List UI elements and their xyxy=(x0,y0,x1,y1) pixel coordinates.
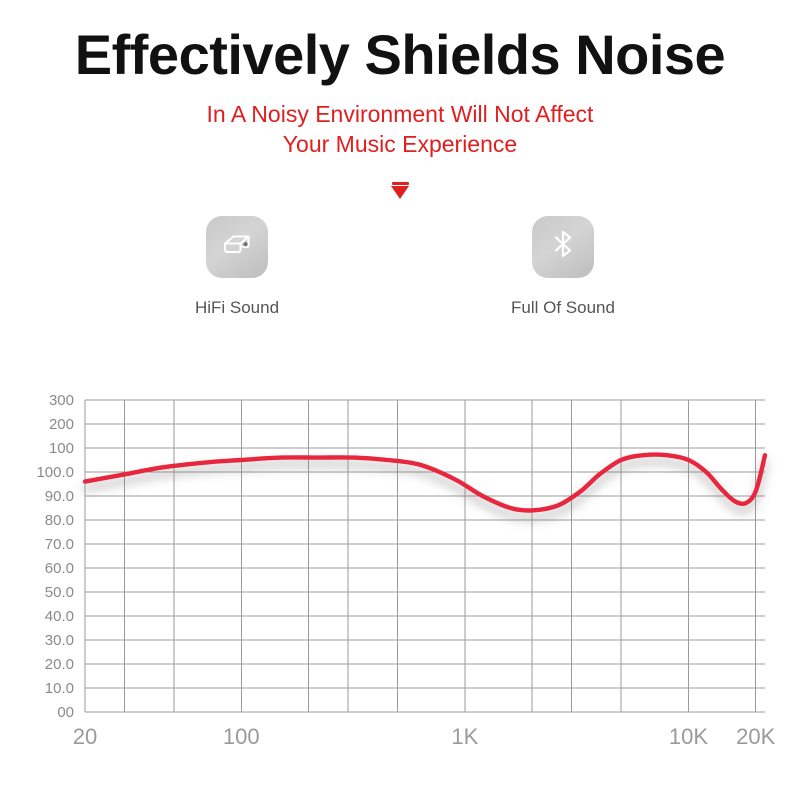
feature-item-hifi-sound: HiFi Sound xyxy=(162,216,312,318)
feature-icon-tile xyxy=(532,216,594,278)
chart-horizontal-gridlines xyxy=(85,400,765,712)
subtitle-line-1: In A Noisy Environment Will Not Affect xyxy=(207,101,594,127)
y-tick-label: 40.0 xyxy=(45,608,74,625)
chart-x-axis-labels: 201001K10K20K xyxy=(73,724,776,749)
x-tick-label: 1K xyxy=(451,724,478,749)
y-tick-label: 300 xyxy=(49,392,74,409)
y-tick-label: 50.0 xyxy=(45,584,74,601)
x-tick-label: 10K xyxy=(669,724,708,749)
chart-y-axis-labels: 300200100100.090.080.070.060.050.040.030… xyxy=(36,392,74,721)
y-tick-label: 200 xyxy=(49,416,74,433)
x-tick-label: 20K xyxy=(736,724,775,749)
earbud-case-icon xyxy=(217,224,257,269)
x-tick-label: 20 xyxy=(73,724,97,749)
feature-icon-tile xyxy=(206,216,268,278)
y-tick-label: 30.0 xyxy=(45,632,74,649)
chart-vertical-gridlines xyxy=(85,400,756,712)
y-tick-label: 00 xyxy=(57,704,74,721)
x-tick-label: 100 xyxy=(223,724,260,749)
y-tick-label: 80.0 xyxy=(45,512,74,529)
feature-item-full-of-sound: Full Of Sound xyxy=(488,216,638,318)
y-tick-label: 10.0 xyxy=(45,680,74,697)
y-tick-label: 100 xyxy=(49,440,74,457)
feature-list: HiFi Sound Full Of Sound xyxy=(0,216,800,318)
chart-axes xyxy=(85,400,765,712)
triangle-shape xyxy=(391,186,409,199)
subtitle-line-2: Your Music Experience xyxy=(0,129,800,159)
y-tick-label: 20.0 xyxy=(45,656,74,673)
feature-label: Full Of Sound xyxy=(511,298,615,318)
y-tick-label: 60.0 xyxy=(45,560,74,577)
down-triangle-icon xyxy=(0,178,800,204)
y-tick-label: 90.0 xyxy=(45,488,74,505)
subtitle: In A Noisy Environment Will Not Affect Y… xyxy=(0,99,800,160)
frequency-response-chart: 300200100100.090.080.070.060.050.040.030… xyxy=(0,380,800,780)
bluetooth-icon xyxy=(543,224,583,269)
header: Effectively Shields Noise In A Noisy Env… xyxy=(0,0,800,160)
response-curve xyxy=(85,455,765,511)
triangle-bar xyxy=(392,182,409,185)
feature-label: HiFi Sound xyxy=(195,298,279,318)
y-tick-label: 100.0 xyxy=(36,464,74,481)
y-tick-label: 70.0 xyxy=(45,536,74,553)
page-title: Effectively Shields Noise xyxy=(0,26,800,85)
